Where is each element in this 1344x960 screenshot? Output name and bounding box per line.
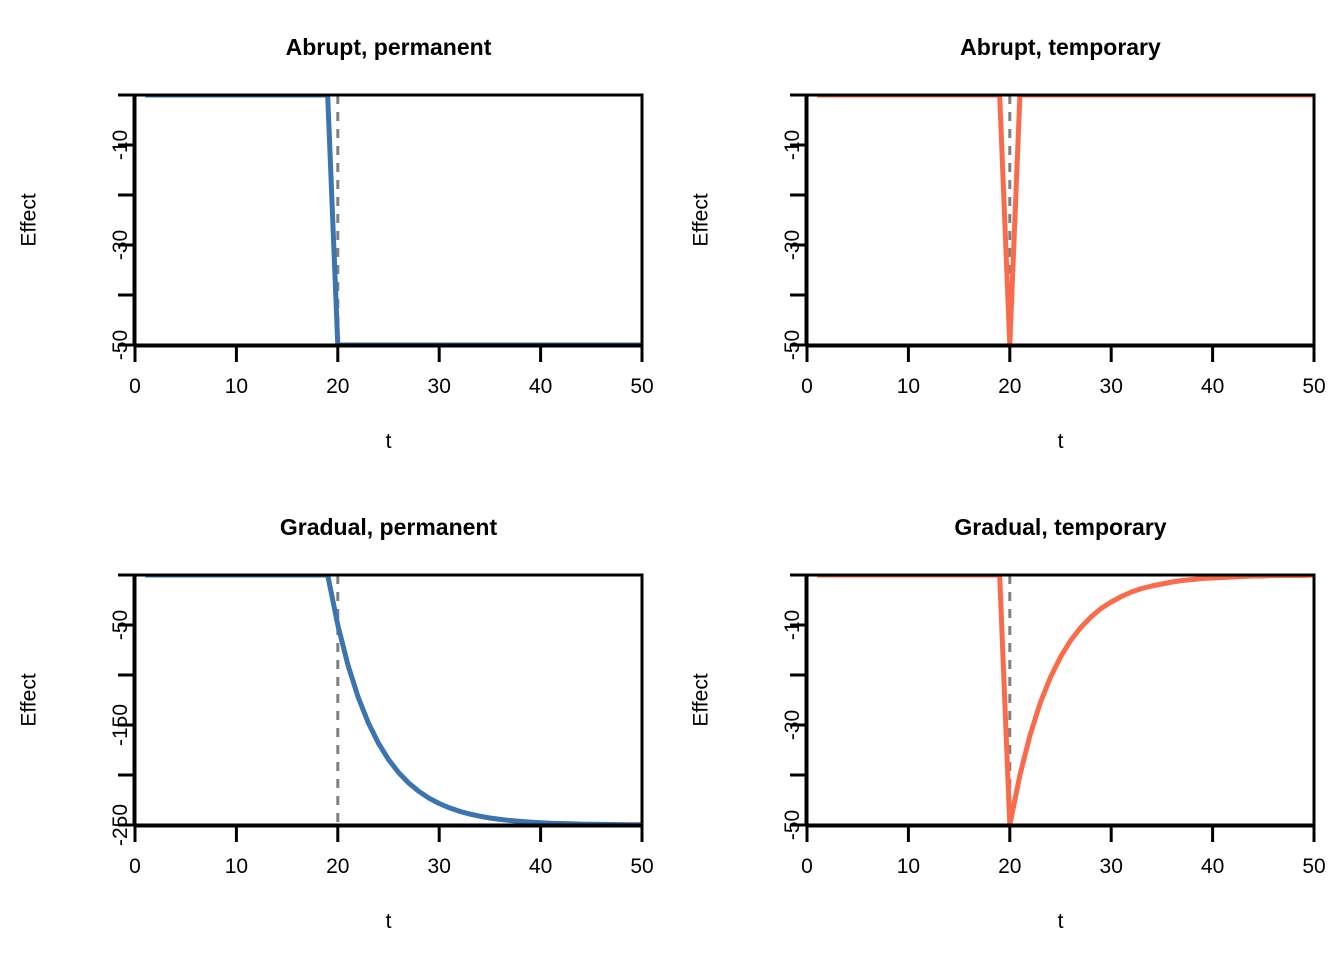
x-tick-label: 20	[998, 855, 1021, 878]
y-tick-label: -50	[109, 330, 132, 360]
plot-gradual-permanent: Gradual, permanent-50-150-25001020304050…	[0, 480, 672, 960]
panel-title: Gradual, temporary	[954, 514, 1166, 540]
y-tick-label: -30	[781, 710, 804, 740]
figure-canvas: Abrupt, permanent-10-30-5001020304050tEf…	[0, 0, 1344, 960]
y-tick-label: -150	[109, 704, 132, 746]
x-tick-label: 10	[225, 855, 248, 878]
plot-frame	[135, 95, 642, 345]
x-tick-label: 40	[1201, 855, 1224, 878]
x-tick-label: 0	[801, 855, 813, 878]
x-tick-label: 30	[1100, 855, 1123, 878]
panel-gradual-temporary: Gradual, temporary-10-30-5001020304050tE…	[672, 480, 1344, 960]
x-tick-label: 30	[1100, 375, 1123, 398]
x-axis-title: t	[386, 910, 392, 933]
series-line-abrupt-temporary	[817, 95, 1314, 345]
x-tick-label: 20	[998, 375, 1021, 398]
x-tick-label: 40	[529, 855, 552, 878]
x-tick-label: 50	[1302, 375, 1325, 398]
x-axis-title: t	[1058, 430, 1064, 453]
x-tick-label: 0	[129, 375, 141, 398]
x-tick-label: 40	[1201, 375, 1224, 398]
plot-frame	[807, 575, 1314, 825]
x-tick-label: 50	[1302, 855, 1325, 878]
plot-gradual-temporary: Gradual, temporary-10-30-5001020304050tE…	[672, 480, 1344, 960]
panel-gradual-permanent: Gradual, permanent-50-150-25001020304050…	[0, 480, 672, 960]
y-tick-label: -10	[109, 130, 132, 160]
x-tick-label: 10	[225, 375, 248, 398]
x-tick-label: 20	[326, 855, 349, 878]
y-tick-label: -50	[109, 610, 132, 640]
y-tick-label: -30	[109, 230, 132, 260]
panel-title: Gradual, permanent	[280, 514, 498, 540]
series-line-gradual-temporary	[817, 575, 1314, 825]
x-tick-label: 50	[630, 855, 653, 878]
x-tick-label: 20	[326, 375, 349, 398]
x-tick-label: 10	[897, 375, 920, 398]
plot-frame	[807, 95, 1314, 345]
y-tick-label: -10	[781, 130, 804, 160]
x-tick-label: 50	[630, 375, 653, 398]
y-tick-label: -50	[781, 330, 804, 360]
plot-abrupt-permanent: Abrupt, permanent-10-30-5001020304050tEf…	[0, 0, 672, 480]
y-axis-title: Effect	[690, 673, 713, 726]
x-tick-label: 10	[897, 855, 920, 878]
panel-title: Abrupt, temporary	[960, 34, 1161, 60]
y-axis-title: Effect	[18, 673, 41, 726]
plot-frame	[135, 575, 642, 825]
y-axis-title: Effect	[18, 193, 41, 246]
x-tick-label: 0	[129, 855, 141, 878]
plot-abrupt-temporary: Abrupt, temporary-10-30-5001020304050tEf…	[672, 0, 1344, 480]
x-tick-label: 0	[801, 375, 813, 398]
y-axis-title: Effect	[690, 193, 713, 246]
panel-abrupt-temporary: Abrupt, temporary-10-30-5001020304050tEf…	[672, 0, 1344, 480]
series-line-gradual-permanent	[145, 575, 642, 825]
x-tick-label: 30	[428, 855, 451, 878]
y-tick-label: -50	[781, 810, 804, 840]
x-tick-label: 40	[529, 375, 552, 398]
panel-abrupt-permanent: Abrupt, permanent-10-30-5001020304050tEf…	[0, 0, 672, 480]
y-tick-label: -10	[781, 610, 804, 640]
series-line-abrupt-permanent	[145, 95, 642, 345]
x-axis-title: t	[1058, 910, 1064, 933]
y-tick-label: -250	[109, 804, 132, 846]
panel-title: Abrupt, permanent	[286, 34, 492, 60]
y-tick-label: -30	[781, 230, 804, 260]
x-axis-title: t	[386, 430, 392, 453]
x-tick-label: 30	[428, 375, 451, 398]
